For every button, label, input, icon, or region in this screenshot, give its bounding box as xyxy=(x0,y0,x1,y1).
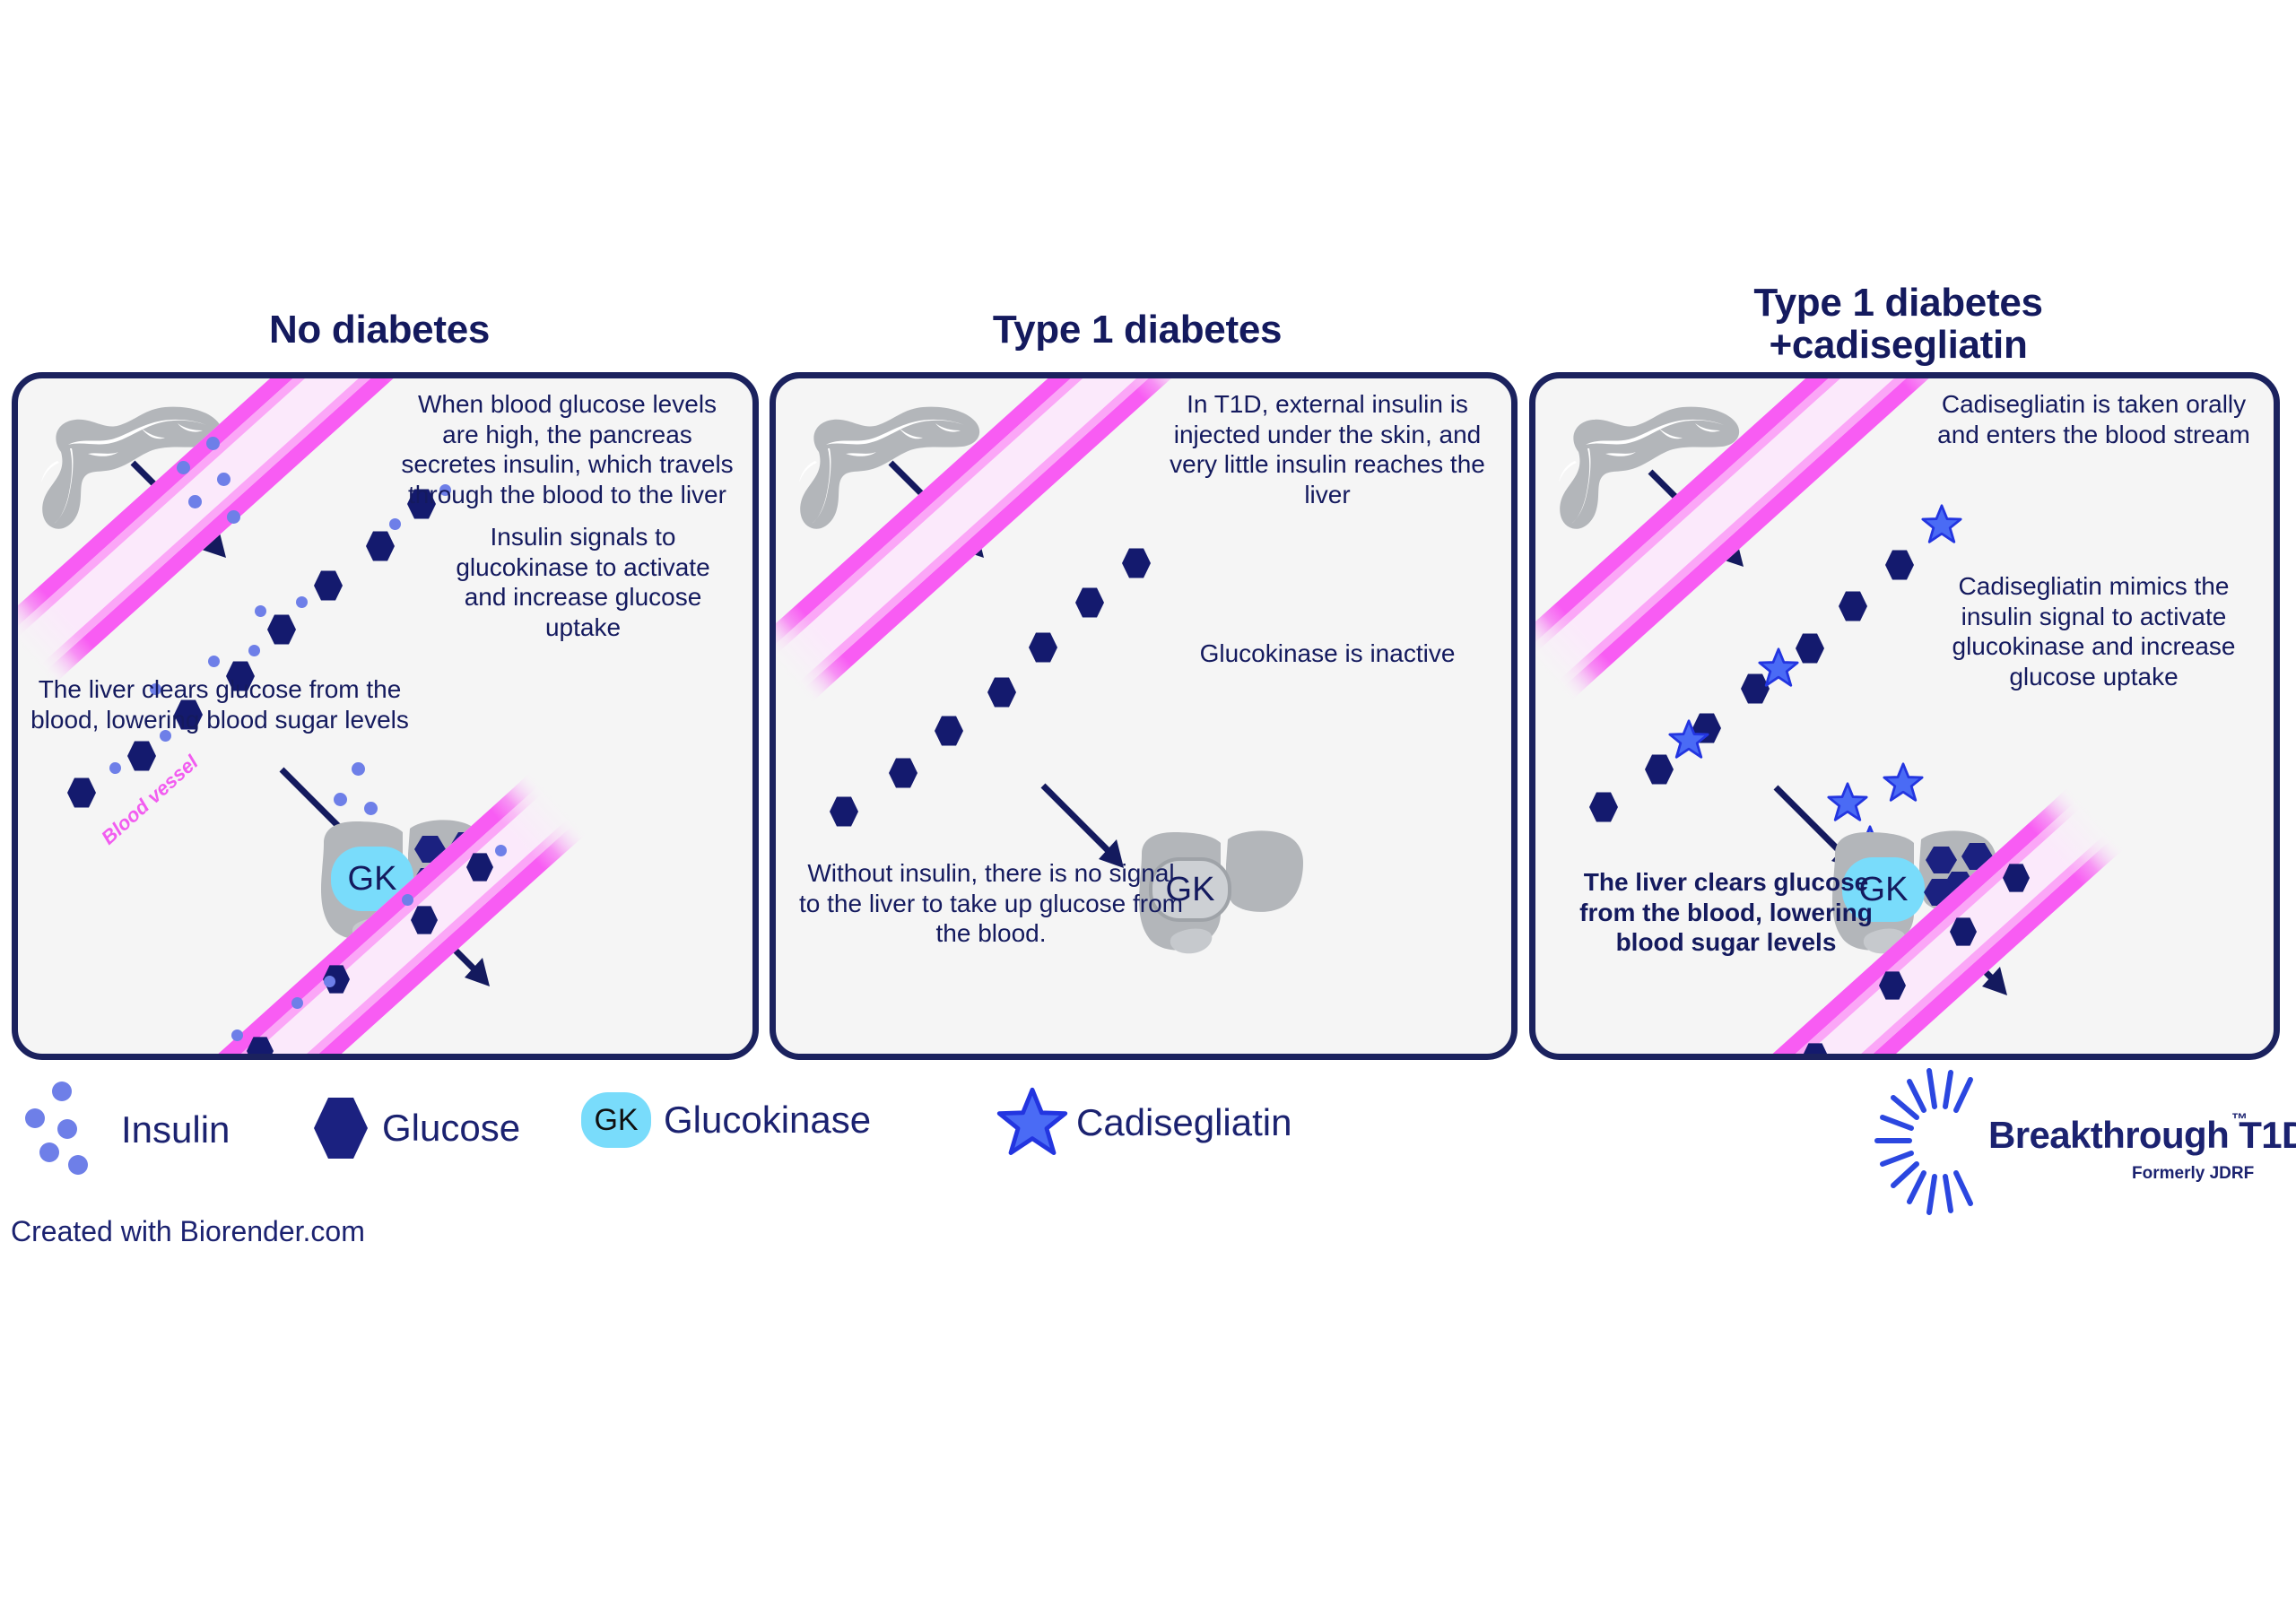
insulin-dot xyxy=(389,518,401,530)
cadisegliatin-star-icon xyxy=(1758,647,1799,689)
glucose-hexagon xyxy=(1122,547,1151,579)
legend-item-glucokinase: GK Glucokinase xyxy=(581,1092,871,1148)
glucose-hexagon xyxy=(127,740,156,772)
panel-title-no-diabetes: No diabetes xyxy=(12,309,747,352)
insulin-dot xyxy=(364,802,378,815)
breakthrough-t1d-logo: Breakthrough T1D ™ Formerly JDRF xyxy=(1870,1067,2265,1220)
glucose-hexagon xyxy=(1796,632,1824,665)
panel-title-line2: +cadisegliatin xyxy=(1529,325,2267,367)
insulin-dot xyxy=(402,894,413,906)
glucose-hexagon xyxy=(67,777,96,809)
glucose-hexagon xyxy=(1839,590,1867,622)
panel-type1-cadisegliatin: GK Cadisegliatin is take xyxy=(1529,372,2280,1060)
glucose-hexagon xyxy=(1075,586,1104,619)
legend-label-glucokinase: Glucokinase xyxy=(664,1099,871,1142)
note-insulin-secretion: When blood glucose levels are high, the … xyxy=(399,389,735,509)
insulin-dot xyxy=(296,596,308,608)
panel-title-type1-cadisegliatin: Type 1 diabetes +cadisegliatin xyxy=(1529,282,2267,366)
cadisegliatin-star-icon xyxy=(996,1087,1069,1159)
cadisegliatin-star-icon xyxy=(1921,504,1962,545)
legend-label-glucose: Glucose xyxy=(382,1107,520,1150)
glucose-hexagon xyxy=(1885,549,1914,581)
legend-item-glucose: Glucose xyxy=(312,1096,520,1160)
insulin-dot xyxy=(495,845,507,856)
glucose-hexagon xyxy=(314,569,343,602)
insulin-dot xyxy=(248,645,260,656)
note-liver-clears-glucose: The liver clears glucose from the blood,… xyxy=(27,674,413,734)
insulin-dot xyxy=(352,762,365,776)
insulin-dot xyxy=(217,473,230,486)
insulin-dot xyxy=(255,605,266,617)
figure-canvas: No diabetes Type 1 diabetes Type 1 diabe… xyxy=(0,0,2296,1607)
insulin-dot xyxy=(208,656,220,667)
svg-text:GK: GK xyxy=(348,860,397,898)
glucose-hexagon xyxy=(987,676,1016,708)
insulin-dot xyxy=(227,510,240,524)
glucose-hexagon xyxy=(935,715,963,747)
panel-no-diabetes: Blood vessel GK xyxy=(12,372,759,1060)
insulin-dot xyxy=(334,793,347,806)
insulin-dot xyxy=(177,461,190,474)
legend-item-cadisegliatin: Cadisegliatin xyxy=(996,1087,1291,1159)
logo-wordmark: Breakthrough T1D xyxy=(1988,1114,2296,1157)
glucose-hexagon xyxy=(366,530,395,562)
logo-subtitle: Formerly JDRF xyxy=(2132,1164,2254,1184)
panel-title-line1: Type 1 diabetes xyxy=(1529,282,2267,325)
glucose-hexagon-icon xyxy=(312,1096,370,1160)
insulin-dot xyxy=(324,976,335,987)
cadisegliatin-star-icon xyxy=(1668,719,1709,760)
note-insulin-signal: Insulin signals to glucokinase to activa… xyxy=(435,522,731,642)
legend-label-insulin: Insulin xyxy=(121,1108,230,1151)
panel-type1-diabetes: GK In T1D, external insulin is injected … xyxy=(770,372,1518,1060)
glucose-hexagon xyxy=(1029,631,1057,664)
note-cadisegliatin-mimics: Cadisegliatin mimics the insulin signal … xyxy=(1921,571,2266,691)
insulin-dot xyxy=(206,437,220,450)
glucokinase-pill-text: GK xyxy=(594,1103,638,1138)
note-liver-clears-glucose: The liver clears glucose from the blood,… xyxy=(1558,867,1894,958)
insulin-dots-icon xyxy=(22,1081,101,1179)
glucose-hexagon xyxy=(267,613,296,646)
logo-sunburst-icon xyxy=(1870,1067,1987,1220)
cadisegliatin-star-icon xyxy=(1883,762,1924,803)
glucose-hexagon xyxy=(830,795,858,828)
glucose-hexagon xyxy=(1589,791,1618,823)
logo-trademark-icon: ™ xyxy=(2231,1110,2248,1129)
insulin-dot xyxy=(188,495,202,508)
insulin-dot xyxy=(291,997,303,1009)
glucose-hexagon xyxy=(889,757,918,789)
legend-label-cadisegliatin: Cadisegliatin xyxy=(1076,1101,1291,1144)
note-glucokinase-inactive: Glucokinase is inactive xyxy=(1157,638,1498,669)
legend-item-insulin: Insulin xyxy=(22,1081,230,1179)
insulin-dot xyxy=(109,762,121,774)
insulin-dot xyxy=(231,1029,243,1041)
biorender-credit: Created with Biorender.com xyxy=(11,1215,365,1248)
glucokinase-pill-icon: GK xyxy=(581,1092,651,1148)
note-no-signal: Without insulin, there is no signal to t… xyxy=(798,858,1184,949)
panel-title-type1-diabetes: Type 1 diabetes xyxy=(770,309,1505,352)
note-cadisegliatin-oral: Cadisegliatin is taken orally and enters… xyxy=(1921,389,2266,449)
note-external-insulin: In T1D, external insulin is injected und… xyxy=(1157,389,1498,509)
